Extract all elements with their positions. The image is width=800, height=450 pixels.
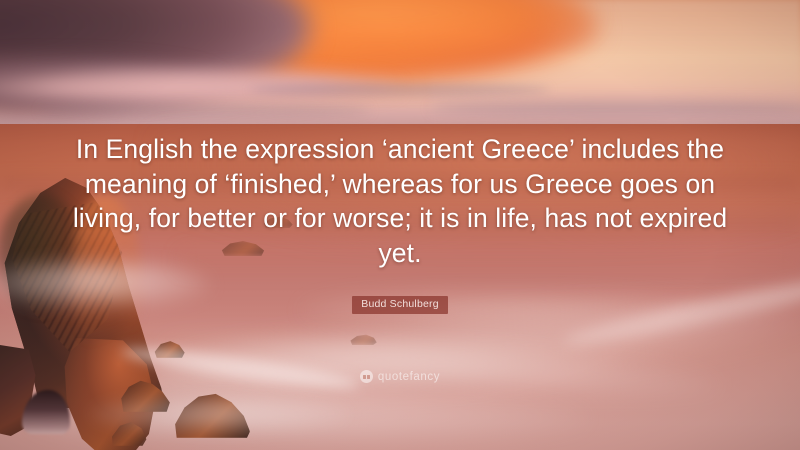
cloud-streak-right: [430, 100, 800, 116]
quote-block: In English the expression ‘ancient Greec…: [0, 132, 800, 270]
quote-image-canvas: In English the expression ‘ancient Greec…: [0, 0, 800, 450]
quotefancy-logo-icon: [360, 370, 373, 383]
quote-text: In English the expression ‘ancient Greec…: [0, 132, 800, 270]
sky-background: [0, 0, 800, 128]
mist-over-foreground-rocks: [90, 396, 350, 432]
author-attribution: Budd Schulberg: [0, 294, 800, 314]
watermark-inner[interactable]: quotefancy: [360, 370, 440, 383]
cloud-streak-left: [40, 104, 370, 117]
watermark: quotefancy: [0, 366, 800, 384]
watermark-brand-text: quotefancy: [378, 371, 440, 383]
author-name-badge[interactable]: Budd Schulberg: [352, 296, 448, 314]
cloud-streak-upper: [250, 84, 550, 96]
